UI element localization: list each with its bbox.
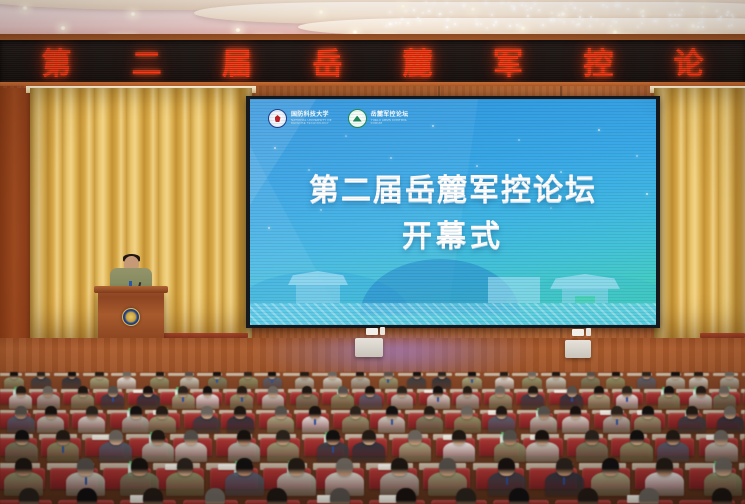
- audience-person-body: [620, 442, 652, 462]
- ceiling-sparkle: [701, 12, 703, 14]
- ceiling-sparkle: [553, 19, 555, 21]
- audience-person-head: [201, 406, 213, 419]
- stage-curtain-right: [654, 88, 745, 338]
- audience-person-head: [671, 372, 679, 379]
- audience-person-head: [302, 386, 312, 397]
- ceiling-sparkle: [550, 19, 552, 21]
- ceiling-sparkle: [534, 3, 536, 5]
- audience-person-head: [664, 386, 674, 397]
- audience-person-head: [236, 458, 253, 476]
- led-banner-frame: 第 二 届 岳 麓 军 控 论: [0, 34, 745, 88]
- audience-person-head: [725, 372, 733, 379]
- ceiling-sparkle: [538, 9, 540, 11]
- audience-person-head: [109, 430, 123, 445]
- audience-person-head: [203, 386, 213, 397]
- audience-person-head: [336, 458, 353, 476]
- forum-logo-cn: 岳麓军控论坛: [371, 112, 409, 118]
- lanyard: [112, 397, 114, 402]
- audience-person-head: [10, 372, 18, 379]
- ceiling-sparkle: [564, 5, 566, 7]
- audience-person-head: [237, 386, 247, 397]
- screen-sparkle: [345, 135, 347, 137]
- audience-person-head: [408, 430, 422, 445]
- audience-person-head: [288, 458, 305, 476]
- ceiling-sparkle: [701, 18, 703, 20]
- ceiling-downlight-icon: [60, 26, 66, 30]
- auditorium-photo: 第 二 届 岳 麓 军 控 论 国防科技大学 NATIONAL UNIVERSI…: [0, 0, 745, 504]
- audience-person-body: [546, 377, 565, 389]
- audience-person-head: [656, 458, 673, 476]
- audience-person-head: [156, 406, 168, 419]
- ceiling-sparkle: [562, 13, 564, 15]
- audience-person-head: [45, 406, 57, 419]
- lanyard: [616, 419, 618, 425]
- audience-person-body: [637, 377, 656, 389]
- audience-person-body: [678, 416, 705, 433]
- audience-person-body: [225, 472, 264, 496]
- audience-person-head: [461, 406, 473, 419]
- audience-person-head: [131, 458, 148, 476]
- ceiling-sparkle: [480, 23, 482, 25]
- screen-sparkle: [636, 155, 638, 157]
- ceiling-downlight-icon: [22, 6, 28, 10]
- ceiling-sparkle: [578, 23, 580, 25]
- audience-person-head: [77, 458, 94, 476]
- audience-person-head: [578, 488, 598, 504]
- wall-outlet: [586, 328, 591, 336]
- lanyard: [571, 397, 573, 402]
- audience-person-body: [166, 472, 205, 496]
- forum-logo-text: 岳麓军控论坛 YUELU ARMS CONTROL FORUM: [371, 112, 409, 126]
- audience-person-body: [526, 442, 558, 462]
- screen-landscape-graphic: [250, 239, 656, 325]
- ceiling-sparkle: [610, 25, 612, 27]
- screen-logo-row: 国防科技大学 NATIONAL UNIVERSITY OF DEFENSE TE…: [268, 109, 408, 128]
- audience-person-body: [117, 377, 136, 389]
- audience-person-head: [275, 406, 287, 419]
- lanyard: [626, 397, 628, 402]
- name-card: [92, 435, 110, 440]
- led-screen: 国防科技大学 NATIONAL UNIVERSITY OF DEFENSE TE…: [250, 99, 656, 325]
- audience-person-head: [630, 430, 644, 445]
- nudt-logo: 国防科技大学 NATIONAL UNIVERSITY OF DEFENSE TE…: [268, 109, 332, 128]
- audience-person-head: [535, 430, 549, 445]
- ceiling-sparkle: [678, 14, 680, 16]
- ceiling-downlight-icon: [520, 26, 526, 30]
- audience-person-head: [602, 458, 619, 476]
- pavilion-sign: [575, 296, 595, 303]
- audience-person-head: [439, 458, 456, 476]
- ceiling-sparkle: [385, 25, 387, 27]
- ceiling-downlight-icon: [235, 28, 241, 32]
- audience-person-head: [37, 372, 45, 379]
- wall-outlet: [380, 327, 385, 335]
- audience-person-body: [658, 394, 681, 408]
- audience-person-head: [268, 386, 278, 397]
- ceiling-sparkle: [720, 16, 722, 18]
- audience-person-head: [433, 386, 443, 397]
- audience-person-head: [696, 386, 706, 397]
- audience-person-head: [424, 406, 436, 419]
- forum-logo-en2: FORUM: [371, 122, 409, 125]
- audience-person-body: [137, 394, 160, 408]
- audience-person-body: [193, 416, 220, 433]
- audience-person-body: [588, 394, 611, 408]
- ceiling-sparkle: [405, 10, 407, 12]
- audience-person-head: [338, 386, 348, 397]
- audience-person-head: [350, 406, 362, 419]
- audience-person-head: [362, 430, 376, 445]
- audience-person-head: [300, 372, 308, 379]
- lanyard: [182, 397, 184, 402]
- audience-person-body: [562, 416, 589, 433]
- audience-person-head: [715, 458, 732, 476]
- ceiling-sparkle: [698, 22, 700, 24]
- wall-outlet: [572, 329, 584, 336]
- ceiling-sparkle: [454, 23, 456, 25]
- audience-person-head: [43, 386, 53, 397]
- audience-person-head: [642, 406, 654, 419]
- audience-person-head: [666, 430, 680, 445]
- audience-person-head: [77, 488, 97, 504]
- audience-person-head: [86, 406, 98, 419]
- screen-sparkle: [274, 147, 276, 149]
- ceiling-sparkle: [702, 26, 704, 28]
- audience-person-head: [495, 386, 505, 397]
- audience-person-head: [570, 406, 582, 419]
- audience-person-head: [456, 488, 476, 504]
- audience-person-head: [413, 372, 421, 379]
- ceiling-sparkle: [413, 9, 415, 11]
- ceiling-sparkle: [559, 19, 561, 21]
- audience-person-head: [237, 430, 251, 445]
- audience-person-head: [391, 458, 408, 476]
- ceiling-sparkle: [606, 6, 608, 8]
- audience-person-head: [267, 488, 287, 504]
- audience-person-head: [177, 458, 194, 476]
- audience-person-head: [714, 430, 728, 445]
- audience-person-head: [19, 488, 39, 504]
- stage-monitor-speaker: [355, 338, 383, 357]
- audience-person-head: [585, 430, 599, 445]
- audience-person-head: [500, 372, 508, 379]
- audience-person-body: [576, 442, 608, 462]
- nudt-logo-en2: DEFENSE TECHNOLOGY: [291, 122, 332, 125]
- audience-person-head: [528, 372, 536, 379]
- audience-person-head: [724, 406, 736, 419]
- audience-person-body: [150, 377, 169, 389]
- ceiling-sparkle: [654, 20, 656, 22]
- audience-person-head: [15, 430, 29, 445]
- audience-person-head: [234, 406, 246, 419]
- lanyard: [241, 397, 243, 402]
- pavilion-body: [296, 283, 340, 303]
- audience-person-head: [330, 488, 350, 504]
- audience-person-head: [178, 386, 188, 397]
- ceiling-sparkle: [718, 18, 720, 20]
- stage-monitor-speaker: [565, 340, 591, 358]
- ceiling-sparkle: [476, 23, 478, 25]
- audience-person-head: [151, 430, 165, 445]
- audience-person-head: [143, 386, 153, 397]
- led-banner-text: 第 二 届 岳 麓 军 控 论: [0, 40, 745, 82]
- audience-person-body: [122, 416, 149, 433]
- lanyard: [85, 477, 87, 485]
- audience-person-head: [68, 372, 76, 379]
- ceiling-downlight-icon: [470, 7, 476, 11]
- audience-person-head: [622, 386, 632, 397]
- ceiling-downlight-icon: [130, 12, 136, 16]
- audience-person-head: [244, 372, 252, 379]
- ceiling-sparkle: [526, 9, 528, 11]
- audience-person-head: [397, 386, 407, 397]
- audience-person-head: [611, 406, 623, 419]
- audience-person-head: [108, 386, 118, 397]
- ceiling-sparkle: [450, 11, 452, 13]
- ceiling-sparkle: [676, 2, 678, 4]
- ceiling-sparkle: [602, 4, 604, 6]
- lanyard: [506, 477, 508, 485]
- ceiling-sparkle: [590, 16, 592, 18]
- audience-person-body: [359, 394, 382, 408]
- audience-person-head: [95, 372, 103, 379]
- ceiling-sparkle: [640, 11, 642, 13]
- ceiling-sparkle: [680, 14, 682, 16]
- ceiling-sparkle: [495, 21, 497, 23]
- podium-top: [94, 286, 168, 293]
- audience-person-body: [407, 377, 426, 389]
- audience-person-body: [90, 377, 109, 389]
- ceiling-sparkle: [716, 10, 718, 12]
- ceiling-downlight-icon: [400, 4, 406, 8]
- ceiling-downlight-icon: [700, 5, 706, 9]
- podium-emblem: [122, 308, 140, 326]
- screen-sparkle: [390, 157, 392, 159]
- ceiling-sparkle: [446, 26, 448, 28]
- audience-person-head: [538, 406, 550, 419]
- audience-person-head: [123, 372, 131, 379]
- audience-person-head: [552, 372, 560, 379]
- ceiling-sparkle: [558, 14, 560, 16]
- audience-person-head: [686, 406, 698, 419]
- audience-person-head: [452, 430, 466, 445]
- audience-person-head: [15, 458, 32, 476]
- forum-mountain-icon: [348, 109, 367, 128]
- ceiling-sparkle: [731, 14, 733, 16]
- lanyard: [62, 446, 64, 453]
- audience-person-head: [498, 458, 515, 476]
- audience-person-head: [309, 406, 321, 419]
- audience-person-head: [143, 488, 163, 504]
- audience-person-head: [712, 488, 732, 504]
- audience-desk: [742, 373, 745, 376]
- audience-person-head: [130, 406, 142, 419]
- audience-person-head: [78, 386, 88, 397]
- lanyard: [391, 419, 393, 425]
- audience-person-head: [184, 430, 198, 445]
- audience-person-head: [365, 386, 375, 397]
- ceiling-sparkle: [513, 8, 515, 10]
- name-card: [554, 390, 568, 394]
- audience-person-head: [396, 488, 416, 504]
- ceiling-sparkle: [727, 11, 729, 13]
- audience-person-head: [612, 372, 620, 379]
- ceiling-sparkle: [425, 1, 427, 3]
- ceiling-sparkle: [509, 25, 511, 27]
- audience-person-head: [276, 430, 290, 445]
- nudt-logo-text: 国防科技大学 NATIONAL UNIVERSITY OF DEFENSE TE…: [291, 112, 332, 126]
- audience-person-head: [556, 458, 573, 476]
- audience-person-head: [528, 386, 538, 397]
- wall-outlet: [366, 328, 378, 335]
- audience-person-head: [642, 372, 650, 379]
- audience-person-body: [416, 416, 443, 433]
- audience-person-body: [142, 442, 174, 462]
- nudt-seal-icon: [268, 109, 287, 128]
- audience-person-head: [56, 430, 70, 445]
- ceiling-sparkle: [401, 18, 403, 20]
- audience-person-head: [16, 386, 26, 397]
- audience-person-body: [352, 442, 384, 462]
- pavilion-body: [488, 277, 540, 303]
- audience-person-head: [694, 372, 702, 379]
- audience-person-head: [468, 372, 476, 379]
- audience-person-head: [384, 372, 392, 379]
- audience-person-head: [509, 488, 529, 504]
- audience-person-head: [594, 386, 604, 397]
- audience-seating: [0, 372, 745, 504]
- nudt-logo-cn: 国防科技大学: [291, 112, 332, 118]
- ceiling-sparkle: [563, 21, 565, 23]
- screen-sparkle: [518, 139, 520, 141]
- ceiling-sparkle: [428, 10, 430, 12]
- audience-person-head: [326, 430, 340, 445]
- ceiling-sparkle: [389, 23, 391, 25]
- ceiling-sparkle: [579, 16, 581, 18]
- ceiling-sparkle: [574, 7, 576, 9]
- screen-sparkle: [598, 129, 600, 131]
- audience-person-head: [463, 386, 473, 397]
- audience-person-head: [503, 430, 517, 445]
- audience-person-head: [328, 372, 336, 379]
- screen-sparkle: [432, 125, 434, 127]
- ceiling-downlight-icon: [318, 10, 324, 14]
- audience-person-head: [587, 372, 595, 379]
- audience-person-head: [205, 488, 225, 504]
- audience-person-head: [639, 488, 659, 504]
- left-wall-pillar: [0, 88, 32, 338]
- audience-person-head: [15, 406, 27, 419]
- ceiling-sparkle: [485, 2, 487, 4]
- audience-person-head: [719, 386, 729, 397]
- audience-person-head: [386, 406, 398, 419]
- lanyard: [563, 477, 565, 485]
- screen-title: 第二届岳麓军控论坛: [250, 165, 656, 209]
- lanyard: [314, 419, 316, 425]
- audience-person-body: [99, 442, 131, 462]
- ceiling-sparkle: [701, 21, 703, 23]
- forum-logo: 岳麓军控论坛 YUELU ARMS CONTROL FORUM: [348, 109, 409, 128]
- ceiling-sparkle: [491, 14, 493, 16]
- led-banner: 第 二 届 岳 麓 军 控 论: [0, 40, 745, 82]
- audience-seat: [741, 500, 745, 504]
- ceiling-sparkle: [627, 8, 629, 10]
- landscape-water: [250, 303, 656, 325]
- audience-person-head: [156, 372, 164, 379]
- lanyard: [332, 446, 334, 453]
- audience-person-head: [496, 406, 508, 419]
- ceiling-sparkle: [395, 22, 397, 24]
- audience-person-head: [567, 386, 577, 397]
- audience-person-body: [78, 416, 105, 433]
- audience-person-head: [438, 372, 446, 379]
